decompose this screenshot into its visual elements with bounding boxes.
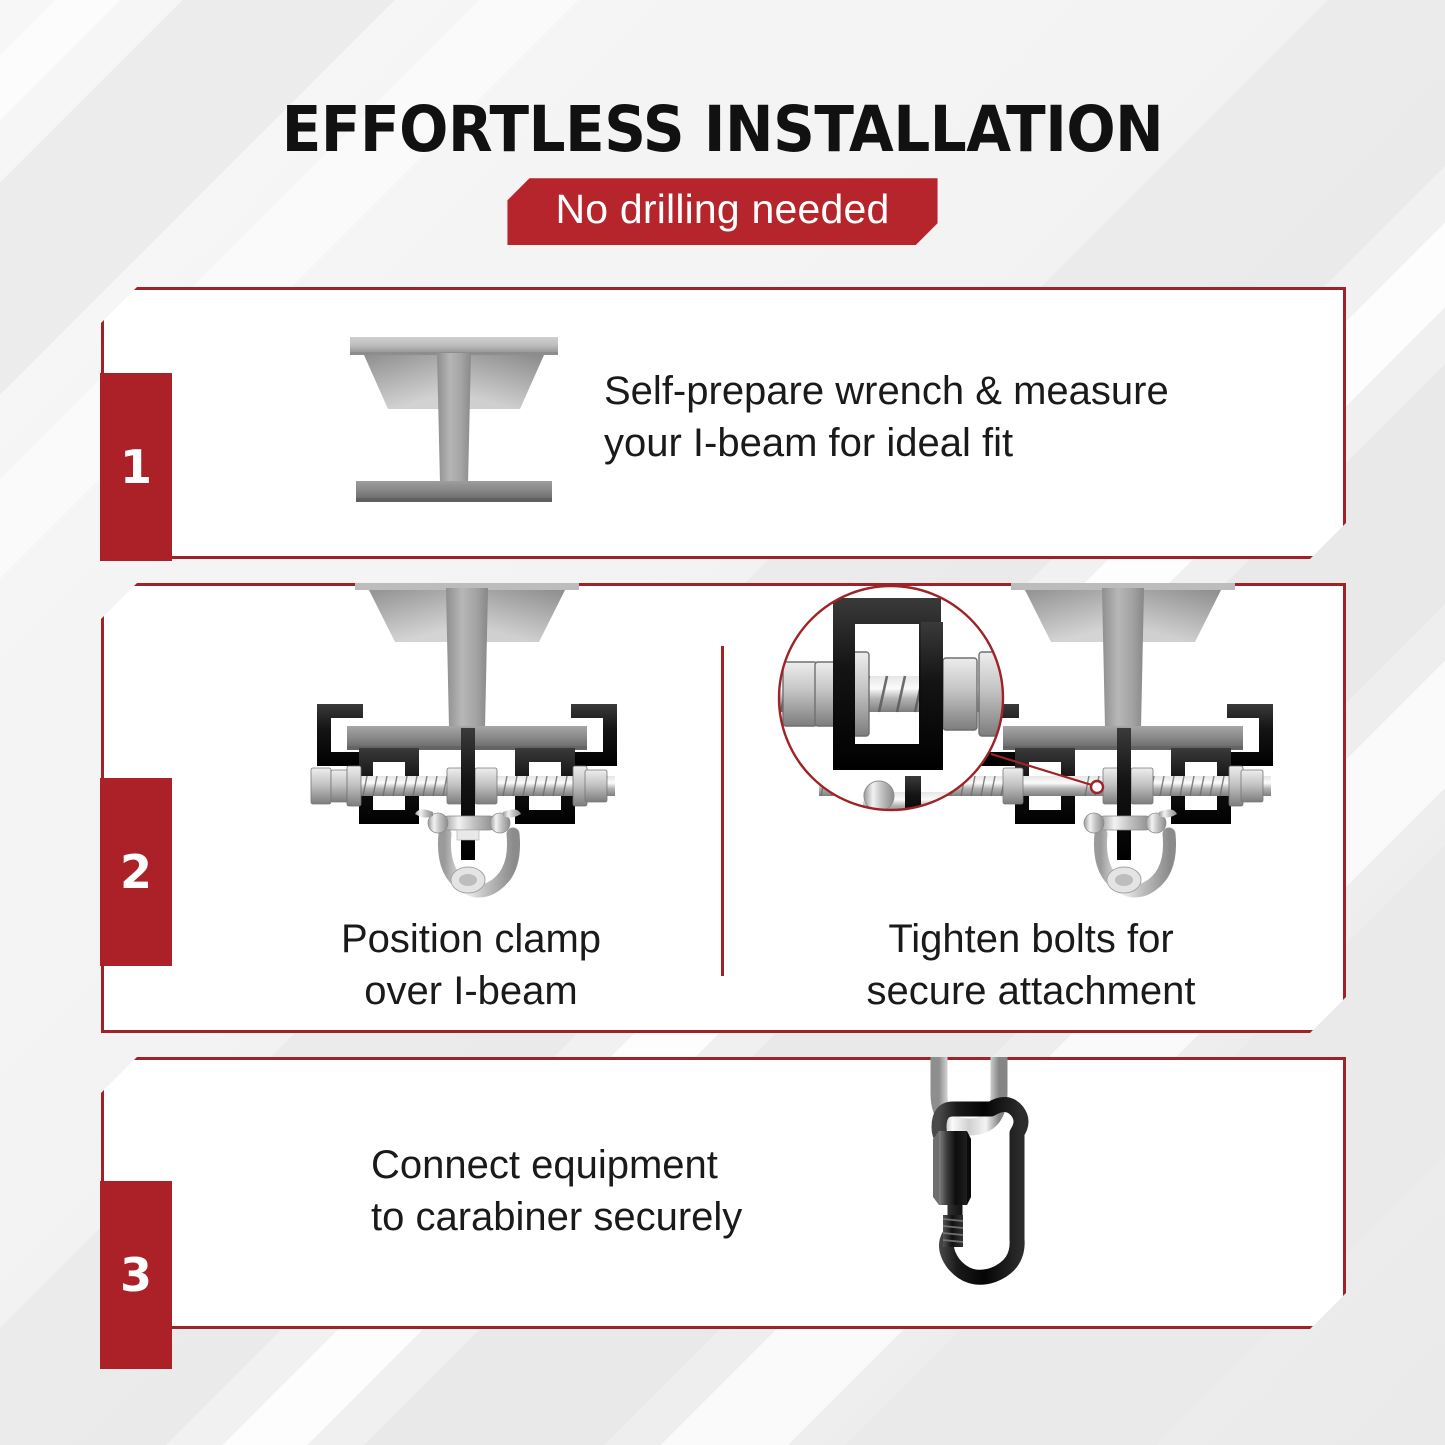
step-card-2: Position clamp over I-beam bbox=[101, 583, 1346, 1033]
step-badge-2: 2 bbox=[100, 778, 172, 966]
panel-divider bbox=[721, 646, 724, 976]
card-inner-1: Self-prepare wrench & measure your I-bea… bbox=[101, 287, 1346, 559]
step-badge-1: 1 bbox=[100, 373, 172, 561]
step-1-text-line-2: your I-beam for ideal fit bbox=[604, 417, 1264, 469]
step-2-panel-2-caption-line-2: secure attachment bbox=[761, 965, 1301, 1017]
step-1-text-line-1: Self-prepare wrench & measure bbox=[604, 365, 1264, 417]
beam-clamp-magnifier-illustration bbox=[773, 583, 1273, 910]
card-inner-3: Connect equipment to carabiner securely bbox=[101, 1057, 1346, 1329]
step-3-text-line-1: Connect equipment bbox=[371, 1139, 971, 1191]
i-beam-3d-illustration bbox=[344, 335, 564, 510]
step-2-panel-2-caption: Tighten bolts for secure attachment bbox=[761, 913, 1301, 1017]
quick-link-carabiner-illustration bbox=[903, 1057, 1103, 1329]
callout-target-dot bbox=[1091, 781, 1103, 793]
step-2-panel-2-caption-line-1: Tighten bolts for bbox=[761, 913, 1301, 965]
beam-clamp-assembly-illustration bbox=[297, 583, 637, 910]
step-card-3: Connect equipment to carabiner securely bbox=[101, 1057, 1346, 1329]
step-badge-3: 3 bbox=[100, 1181, 172, 1369]
card-inner-2: Position clamp over I-beam bbox=[101, 583, 1346, 1033]
header: EFFORTLESS INSTALLATION No drilling need… bbox=[0, 98, 1445, 245]
step-card-1: Self-prepare wrench & measure your I-bea… bbox=[101, 287, 1346, 559]
step-3-text: Connect equipment to carabiner securely bbox=[371, 1139, 971, 1243]
step-2-panel-1-caption-line-2: over I-beam bbox=[261, 965, 681, 1017]
page-title: EFFORTLESS INSTALLATION bbox=[58, 98, 1387, 162]
step-2-panel-1-caption-line-1: Position clamp bbox=[261, 913, 681, 965]
step-2-panel-1-caption: Position clamp over I-beam bbox=[261, 913, 681, 1017]
subtitle-banner: No drilling needed bbox=[507, 178, 937, 245]
step-3-text-line-2: to carabiner securely bbox=[371, 1191, 971, 1243]
step-1-text: Self-prepare wrench & measure your I-bea… bbox=[604, 365, 1264, 469]
